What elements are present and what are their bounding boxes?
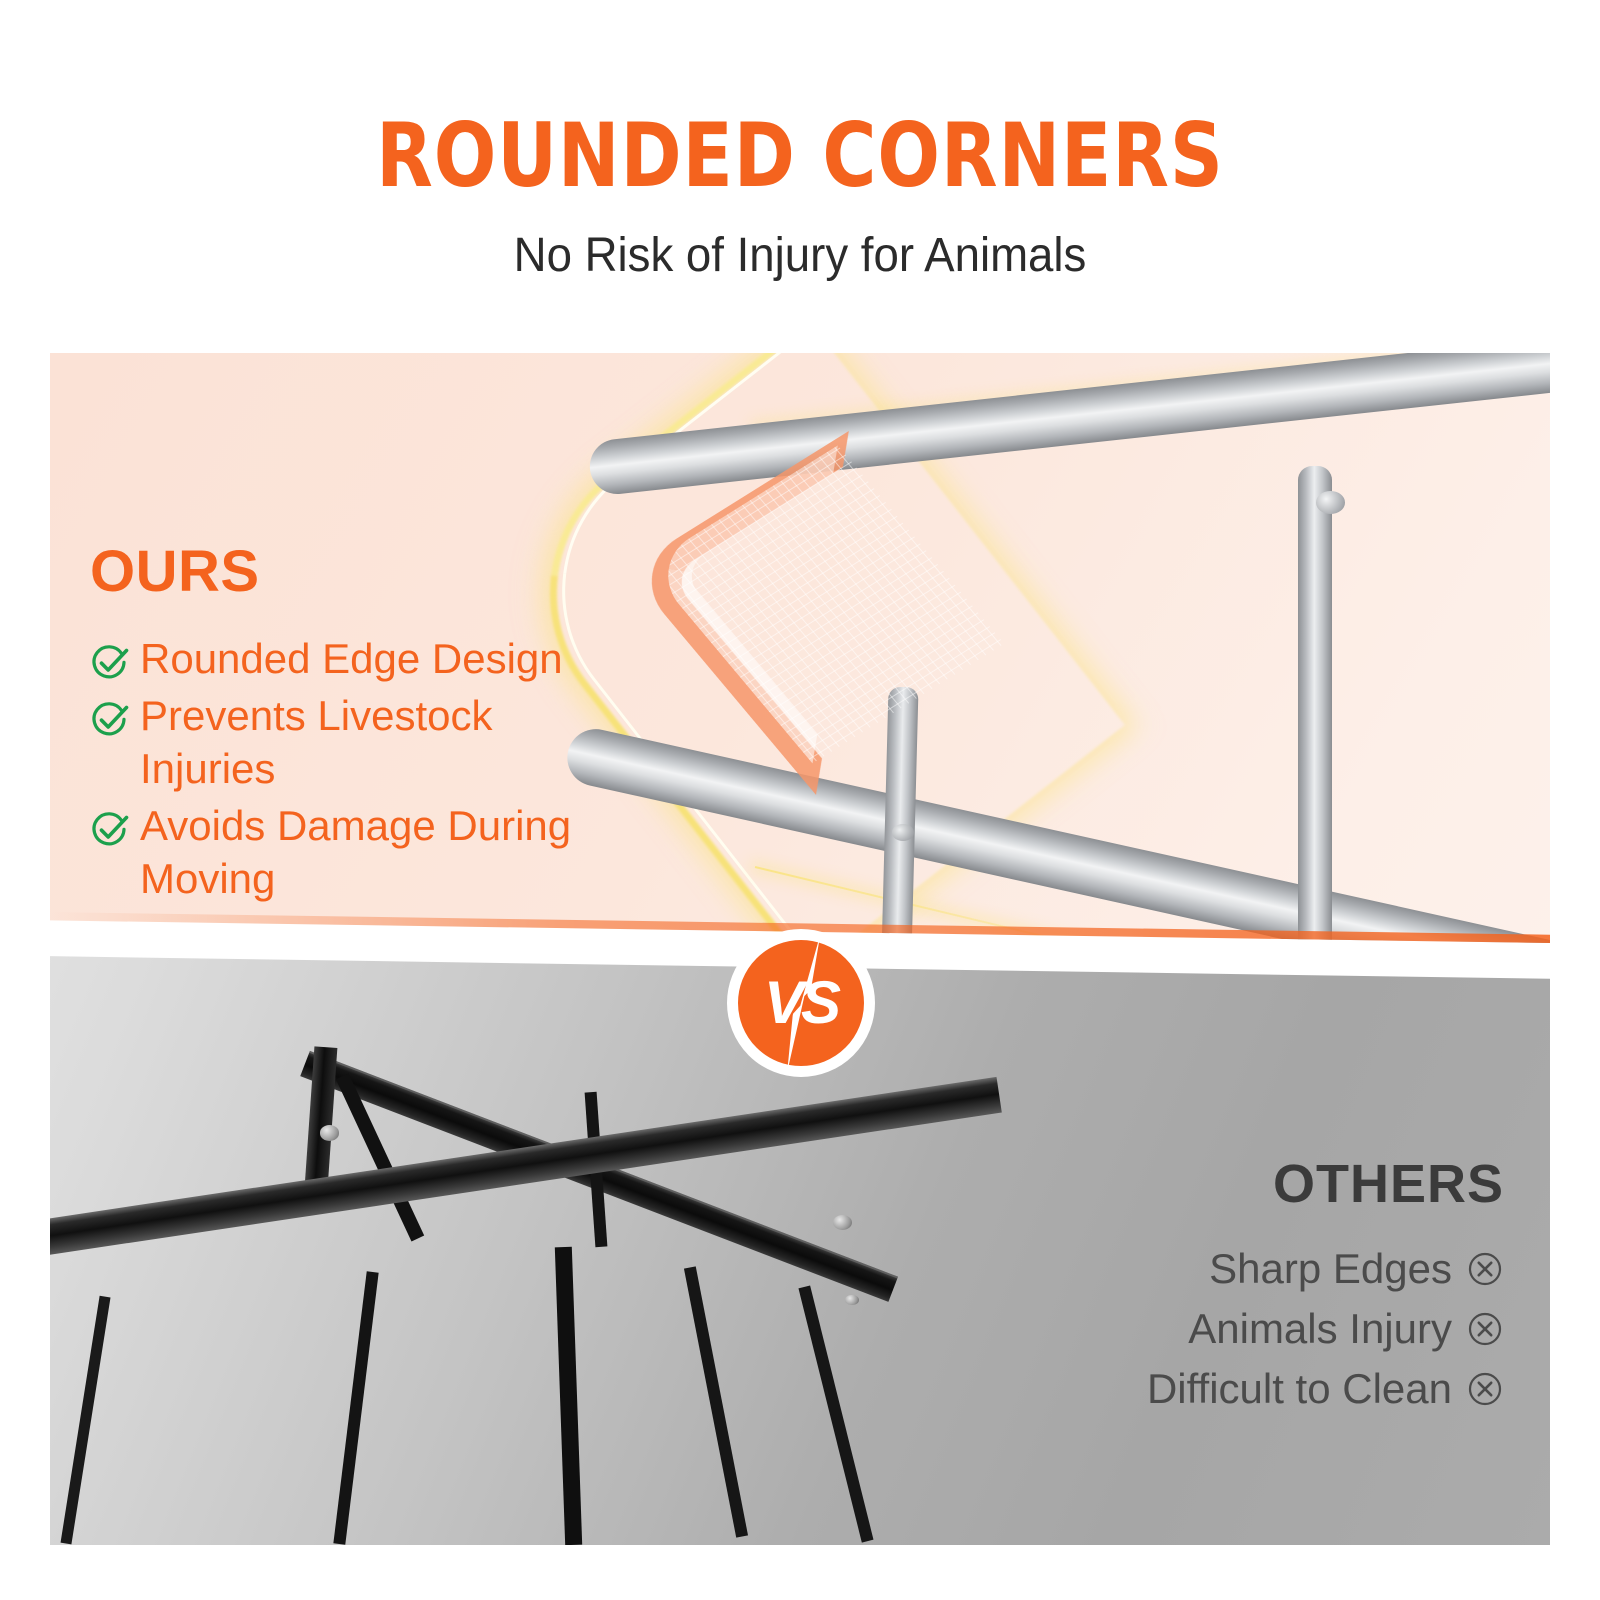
- x-circle-icon: [1466, 1310, 1504, 1348]
- black-frame-leg: [798, 1285, 873, 1542]
- ours-heading: OURS: [90, 538, 260, 605]
- bolt-head: [320, 1125, 339, 1140]
- list-item: Animals Injury: [1147, 1305, 1504, 1353]
- ours-feature-text: Rounded Edge Design: [140, 633, 563, 686]
- list-item: Rounded Edge Design: [90, 633, 610, 686]
- black-frame-leg: [684, 1266, 748, 1537]
- bolt-head: [833, 1215, 852, 1230]
- ours-feature-list: Rounded Edge Design Prevents Livestock I…: [90, 633, 610, 910]
- check-circle-icon: [90, 643, 130, 683]
- page-subtitle: No Risk of Injury for Animals: [40, 228, 1560, 283]
- others-drawback-text: Animals Injury: [1188, 1305, 1452, 1353]
- weld-joint: [1316, 491, 1345, 514]
- list-item: Sharp Edges: [1147, 1245, 1504, 1293]
- others-heading: OTHERS: [1273, 1153, 1504, 1215]
- list-item: Avoids Damage During Moving: [90, 800, 610, 906]
- others-drawback-text: Sharp Edges: [1209, 1245, 1452, 1293]
- silver-tube-vertical-post: [1298, 466, 1333, 1026]
- list-item: Prevents Livestock Injuries: [90, 690, 610, 796]
- comparison-stage: OURS Rounded Edge Design Prevents Livest…: [50, 353, 1550, 1545]
- black-frame-leg: [555, 1247, 582, 1545]
- vs-label: VS: [764, 973, 838, 1033]
- ours-feature-text: Avoids Damage During Moving: [140, 800, 610, 906]
- others-drawback-text: Difficult to Clean: [1147, 1365, 1452, 1413]
- check-circle-icon: [90, 700, 130, 740]
- x-circle-icon: [1466, 1250, 1504, 1288]
- bolt-head: [845, 1295, 859, 1306]
- black-frame-main-rail: [50, 1077, 1002, 1259]
- check-circle-icon: [90, 810, 130, 850]
- header: ROUNDED CORNERS No Risk of Injury for An…: [0, 0, 1600, 353]
- list-item: Difficult to Clean: [1147, 1365, 1504, 1413]
- x-circle-icon: [1466, 1370, 1504, 1408]
- ours-feature-text: Prevents Livestock Injuries: [140, 690, 610, 796]
- black-frame-leg: [333, 1271, 378, 1545]
- black-frame-leg: [60, 1295, 110, 1544]
- page-title: ROUNDED CORNERS: [56, 112, 1544, 200]
- vs-badge: VS: [727, 929, 875, 1077]
- others-drawback-list: Sharp Edges Animals Injury Difficult to …: [1147, 1245, 1504, 1425]
- weld-joint-secondary: [892, 824, 915, 841]
